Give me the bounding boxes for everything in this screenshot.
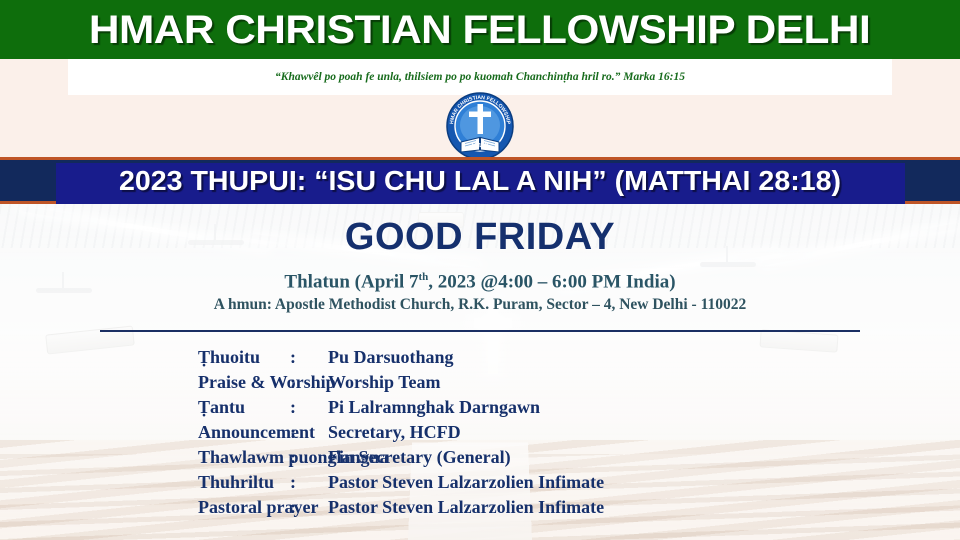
program-item-name: Thawlawm puonglangna [0,447,290,468]
program-item-value: Pi Lalramnghak Darngawn [328,397,540,418]
scripture-verse-band: “Khawvêl po poah fe unla, thilsiem po po… [68,59,892,95]
program-row: Ṭhuoitu : Pu Darsuothang [0,347,960,372]
program-list: Ṭhuoitu : Pu Darsuothang Praise & Worshi… [0,347,960,522]
scripture-verse-text: “Khawvêl po poah fe unla, thilsiem po po… [275,71,685,83]
program-separator: : [290,472,328,493]
program-row: Thawlawm puonglangna : Fin Secretary (Ge… [0,447,960,472]
program-separator: : [290,447,328,468]
program-item-name: Ṭhuoitu [0,347,290,368]
program-row: Pastoral prayer : Pastor Steven Lalzarzo… [0,497,960,522]
program-item-value: Fin Secretary (General) [328,447,511,468]
program-item-name: Ṭantu [0,397,290,418]
program-separator: : [290,422,328,443]
program-row: Praise & Worship : Worship Team [0,372,960,397]
program-separator: : [290,397,328,418]
program-item-value: Pu Darsuothang [328,347,454,368]
section-divider [100,330,860,332]
program-item-name: Pastoral prayer [0,497,290,518]
event-date-ordinal: th [419,271,429,283]
program-item-value: Pastor Steven Lalzarzolien Infimate [328,472,604,493]
event-datetime-suffix: , 2023 @4:00 – 6:00 PM India) [428,271,675,292]
program-separator: : [290,347,328,368]
fellowship-logo: HMAR CHRISTIAN FELLOWSHIP DELHI [446,92,514,160]
event-title: GOOD FRIDAY [0,218,960,256]
program-item-value: Pastor Steven Lalzarzolien Infimate [328,497,604,518]
program-separator: : [290,497,328,518]
program-separator: : [290,372,328,393]
program-item-name: Thuhriltu [0,472,290,493]
fellowship-logo-icon: HMAR CHRISTIAN FELLOWSHIP DELHI [446,92,514,160]
program-item-name: Announcement [0,422,290,443]
program-row: Announcement : Secretary, HCFD [0,422,960,447]
program-item-value: Worship Team [328,372,441,393]
program-item-name: Praise & Worship [0,372,290,393]
poster-content: GOOD FRIDAY Thlatun (April 7th, 2023 @4:… [0,204,960,540]
program-row: Ṭantu : Pi Lalramnghak Darngawn [0,397,960,422]
annual-theme-text: 2023 THUPUI: “ISU CHU LAL A NIH” (MATTHA… [0,157,960,204]
organization-title: HMAR CHRISTIAN FELLOWSHIP DELHI [89,10,870,50]
event-datetime-prefix: Thlatun (April 7 [284,271,418,292]
event-datetime: Thlatun (April 7th, 2023 @4:00 – 6:00 PM… [0,266,960,293]
event-venue: A hmun: Apostle Methodist Church, R.K. P… [0,296,960,314]
good-friday-poster: HMAR CHRISTIAN FELLOWSHIP DELHI “Khawvêl… [0,0,960,540]
program-row: Thuhriltu : Pastor Steven Lalzarzolien I… [0,472,960,497]
program-item-value: Secretary, HCFD [328,422,461,443]
organization-header-bar: HMAR CHRISTIAN FELLOWSHIP DELHI [0,0,960,59]
